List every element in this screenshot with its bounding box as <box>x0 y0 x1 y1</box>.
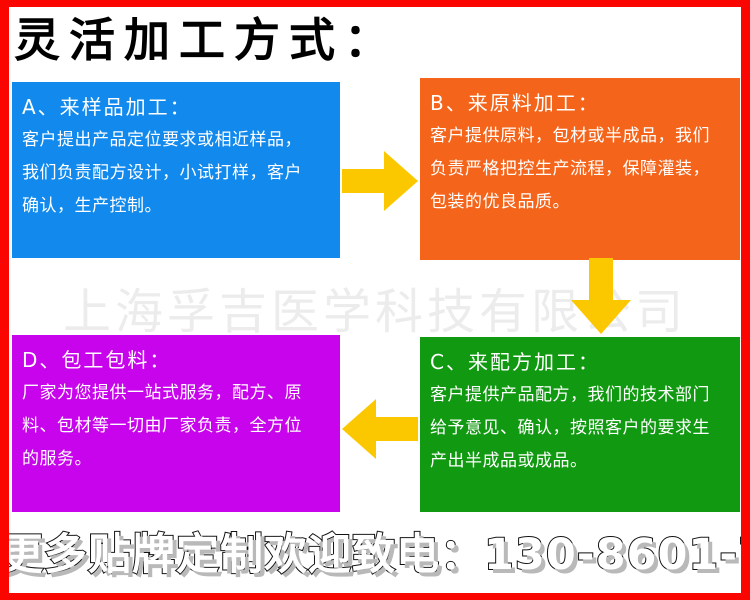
process-card-b-body-line: 包装的优良品质。 <box>430 186 730 219</box>
process-card-b: B、来原料加工： 客户提供原料，包材或半成品，我们 负责严格把控生产流程，保障灌… <box>420 78 740 260</box>
watermark-text: 上海孚吉医学科技有限公司 <box>0 272 750 342</box>
process-card-c-body: 客户提供产品配方，我们的技术部门 给予意见、确认，按照客户的要求生 产出半成品或… <box>430 379 730 478</box>
process-card-c-heading: C、来配方加工： <box>430 345 730 379</box>
process-card-c: C、来配方加工： 客户提供产品配方，我们的技术部门 给予意见、确认，按照客户的要… <box>420 337 740 512</box>
process-card-b-body-line: 负责严格把控生产流程，保障灌装， <box>430 153 730 186</box>
process-card-a-body: 客户提出产品定位要求或相近样品， 我们负责配方设计，小试打样，客户 确认，生产控… <box>22 124 330 223</box>
process-card-d-body-line: 厂家为您提供一站式服务，配方、原 <box>22 377 330 410</box>
process-card-d-heading: D、包工包料： <box>22 343 330 377</box>
process-card-b-body-line: 客户提供原料，包材或半成品，我们 <box>430 120 730 153</box>
poster-canvas: 上海孚吉医学科技有限公司 灵活加工方式： A、来样品加工： 客户提出产品定位要求… <box>0 0 750 600</box>
process-card-d: D、包工包料： 厂家为您提供一站式服务，配方、原 料、包材等一切由厂家负责，全方… <box>12 335 340 512</box>
process-card-c-body-line: 产出半成品或成品。 <box>430 445 730 478</box>
arrow-down-icon <box>568 258 634 334</box>
process-card-a-body-line: 确认，生产控制。 <box>22 190 330 223</box>
process-card-a-heading: A、来样品加工： <box>22 90 330 124</box>
page-title: 灵活加工方式： <box>14 14 399 66</box>
process-card-a-body-line: 客户提出产品定位要求或相近样品， <box>22 124 330 157</box>
process-card-b-heading: B、来原料加工： <box>430 86 730 120</box>
process-card-b-body: 客户提供原料，包材或半成品，我们 负责严格把控生产流程，保障灌装， 包装的优良品… <box>430 120 730 219</box>
arrow-left-icon <box>342 396 418 462</box>
process-card-a-body-line: 我们负责配方设计，小试打样，客户 <box>22 157 330 190</box>
process-card-c-body-line: 给予意见、确认，按照客户的要求生 <box>430 412 730 445</box>
process-card-d-body: 厂家为您提供一站式服务，配方、原 料、包材等一切由厂家负责，全方位 的服务。 <box>22 377 330 476</box>
process-card-d-body-line: 料、包材等一切由厂家负责，全方位 <box>22 410 330 443</box>
process-card-a: A、来样品加工： 客户提出产品定位要求或相近样品， 我们负责配方设计，小试打样，… <box>12 82 340 258</box>
contact-footer: 更多贴牌定制欢迎致电：130-8601-7720 <box>0 527 750 583</box>
arrow-right-icon <box>342 148 418 214</box>
process-card-d-body-line: 的服务。 <box>22 443 330 476</box>
process-card-c-body-line: 客户提供产品配方，我们的技术部门 <box>430 379 730 412</box>
